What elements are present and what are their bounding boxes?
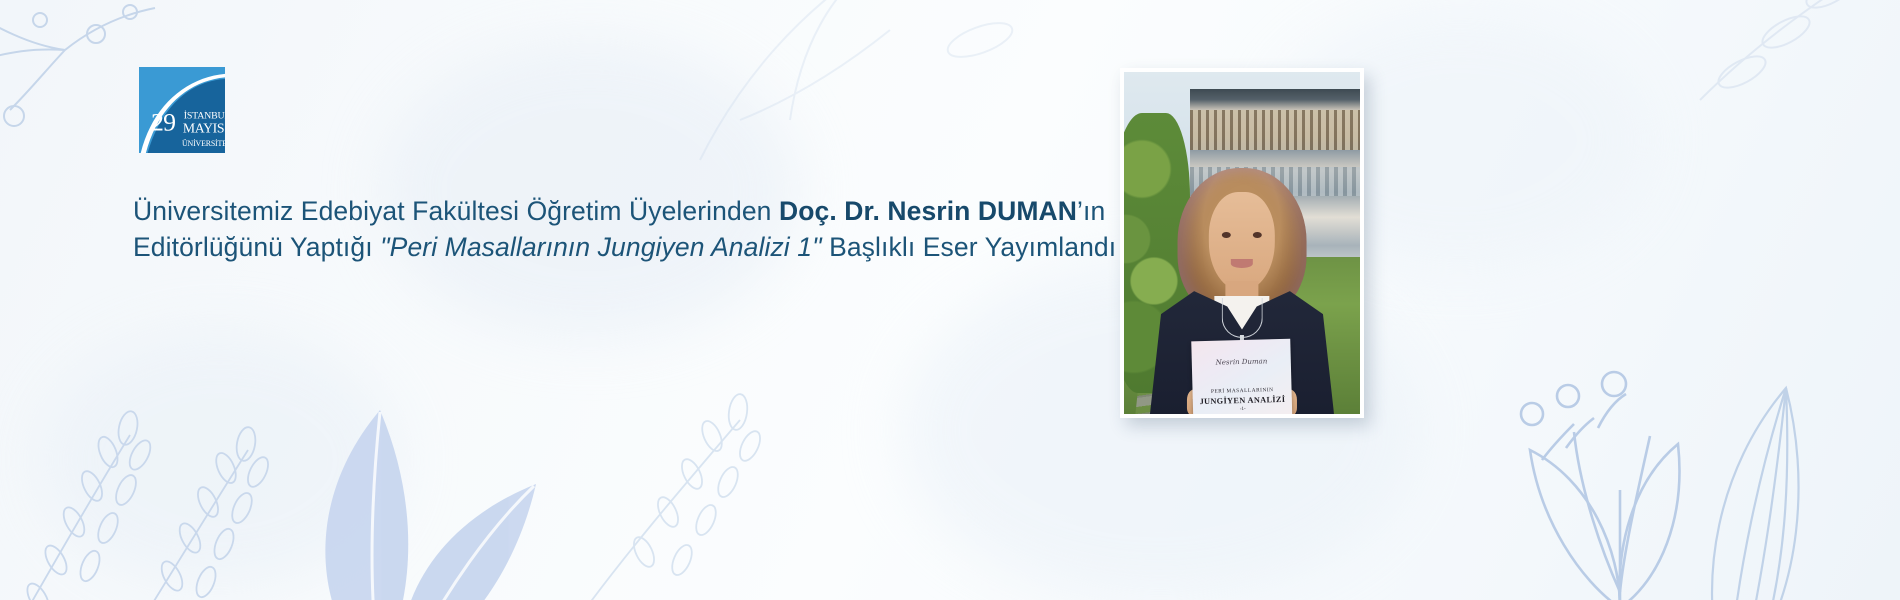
background-wash — [40, 330, 400, 590]
svg-text:MAYIS: MAYIS — [183, 120, 224, 135]
headline-person-name: Doç. Dr. Nesrin DUMAN — [779, 196, 1077, 226]
headline-line2-text: Editörlüğünü Yaptığı — [133, 232, 380, 262]
book-title: JUNGİYEN ANALİZİ — [1200, 395, 1286, 406]
photo-person: Nesrin Duman PERİ MASALLARININ JUNGİYEN … — [1150, 168, 1334, 414]
headline-line-1: Üniversitemiz Edebiyat Fakültesi Öğretim… — [133, 193, 1083, 229]
nesrin-duman-book-photo: Nesrin Duman PERİ MASALLARININ JUNGİYEN … — [1124, 72, 1360, 414]
background-wash — [380, 40, 800, 340]
headline-book-title: "Peri Masallarının Jungiyen Analizi 1" — [380, 232, 821, 262]
announcement-banner: 29 İSTANBUL MAYIS ÜNİVERSİTESİ Üniversit… — [0, 0, 1900, 600]
tulip-decoration-icon — [1470, 340, 1770, 600]
photo-person-eye-right — [1253, 232, 1262, 238]
headline-line-2: Editörlüğünü Yaptığı "Peri Masallarının … — [133, 229, 1083, 265]
svg-text:29: 29 — [151, 108, 175, 137]
photo-person-eye-left — [1222, 232, 1231, 238]
photo-frame[interactable]: Nesrin Duman PERİ MASALLARININ JUNGİYEN … — [1120, 68, 1364, 418]
book-volume: -1- — [1240, 407, 1246, 412]
headline-line1-text: Üniversitemiz Edebiyat Fakültesi Öğretim… — [133, 196, 779, 226]
wheat-sprig-decoration-icon — [560, 350, 860, 600]
headline-line2-suffix: Başlıklı Eser Yayımlandı — [822, 232, 1117, 262]
leaf-decoration-icon — [1690, 330, 1890, 600]
headline-line1-suffix: ’ın — [1077, 196, 1105, 226]
photo-person-smile — [1231, 259, 1254, 268]
photo-book-cover: Nesrin Duman PERİ MASALLARININ JUNGİYEN … — [1191, 339, 1292, 414]
university-logo[interactable]: 29 İSTANBUL MAYIS ÜNİVERSİTESİ — [139, 67, 225, 153]
svg-text:ÜNİVERSİTESİ: ÜNİVERSİTESİ — [182, 139, 225, 148]
istanbul-29-mayis-universitesi-logo-icon: 29 İSTANBUL MAYIS ÜNİVERSİTESİ — [139, 67, 225, 153]
book-author: Nesrin Duman — [1216, 358, 1268, 367]
book-subtitle: PERİ MASALLARININ — [1211, 388, 1274, 396]
announcement-headline: Üniversitemiz Edebiyat Fakültesi Öğretim… — [133, 193, 1083, 265]
